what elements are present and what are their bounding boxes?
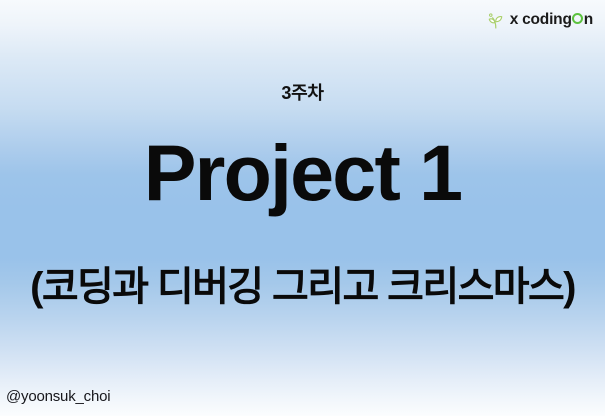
brand-logo: x coding n [486,9,593,31]
slide-title: Project 1 [0,132,605,215]
brand-ring-o-icon [572,13,583,24]
week-label: 3주차 [0,84,605,104]
slide-canvas: x coding n 3주차 Project 1 (코딩과 디버깅 그리고 크리… [0,0,605,416]
slide-subtitle: (코딩과 디버깅 그리고 크리스마스) [0,264,605,310]
brand-wordmark: x coding n [510,12,593,28]
brand-word-after-ring: n [584,12,593,28]
brand-word-before-ring: coding [522,12,572,28]
brand-prefix: x [510,12,518,28]
author-handle: @yoonsuk_choi [6,389,110,404]
sprout-leaf-icon [486,11,505,30]
